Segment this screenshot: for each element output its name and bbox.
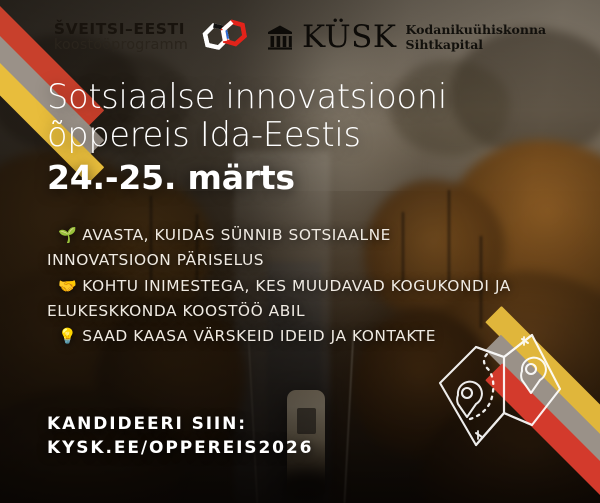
list-item-label: SAAD KAASA VÄRSKEID IDEID JA KONTAKTE <box>82 327 436 345</box>
interlocking-hexagons-icon <box>199 17 241 57</box>
kusk-subline2: Sihtkapital <box>406 37 547 52</box>
sveitsi-eesti-line2: koostööprogramm <box>54 38 188 53</box>
kusk-subline: Kodanikuühiskonna Sihtkapital <box>406 22 547 53</box>
seedling-icon: 🌱 <box>47 226 77 244</box>
cta-url[interactable]: KYSK.EE/OPPEREIS2026 <box>47 436 313 460</box>
poster: ŠVEITSI–EESTI koostööprogramm <box>0 0 600 503</box>
pillar-building-icon <box>267 24 293 50</box>
handshake-icon: 🤝 <box>47 277 77 295</box>
lightbulb-icon: 💡 <box>47 327 77 345</box>
kusk-logo: KÜSK Kodanikuühiskonna Sihtkapital <box>267 22 546 53</box>
list-item-label: AVASTA, KUIDAS SÜNNIB SOTSIAALNE INNOVAT… <box>47 226 391 269</box>
kusk-wordmark: KÜSK <box>302 22 397 53</box>
page-title: Sotsiaalse innovatsiooni õppereis Ida-Ee… <box>47 78 517 154</box>
folded-map-illustration <box>436 327 578 455</box>
main-content: Sotsiaalse innovatsiooni õppereis Ida-Ee… <box>47 78 517 350</box>
sveitsi-eesti-line1: ŠVEITSI–EESTI <box>54 22 188 38</box>
list-item: 🌱AVASTA, KUIDAS SÜNNIB SOTSIAALNE INNOVA… <box>47 223 517 273</box>
headline-line-2: õppereis Ida-Eestis <box>47 116 517 154</box>
sveitsi-eesti-wordmark: ŠVEITSI–EESTI koostööprogramm <box>54 22 188 53</box>
cta-line-1: KANDIDEERI SIIN: <box>47 412 313 436</box>
list-item: 🤝KOHTU INIMESTEGA, KES MUUDAVAD KOGUKOND… <box>47 274 517 324</box>
sveitsi-eesti-koostooprogramm-logo: ŠVEITSI–EESTI koostööprogramm <box>54 17 241 57</box>
logo-row: ŠVEITSI–EESTI koostööprogramm <box>0 14 600 60</box>
kusk-subline1: Kodanikuühiskonna <box>406 22 547 37</box>
headline-line-1: Sotsiaalse innovatsiooni <box>47 77 447 116</box>
call-to-action[interactable]: KANDIDEERI SIIN: KYSK.EE/OPPEREIS2026 <box>47 412 313 460</box>
event-date: 24.-25. märts <box>47 160 517 196</box>
list-item-label: KOHTU INIMESTEGA, KES MUUDAVAD KOGUKONDI… <box>47 277 511 320</box>
